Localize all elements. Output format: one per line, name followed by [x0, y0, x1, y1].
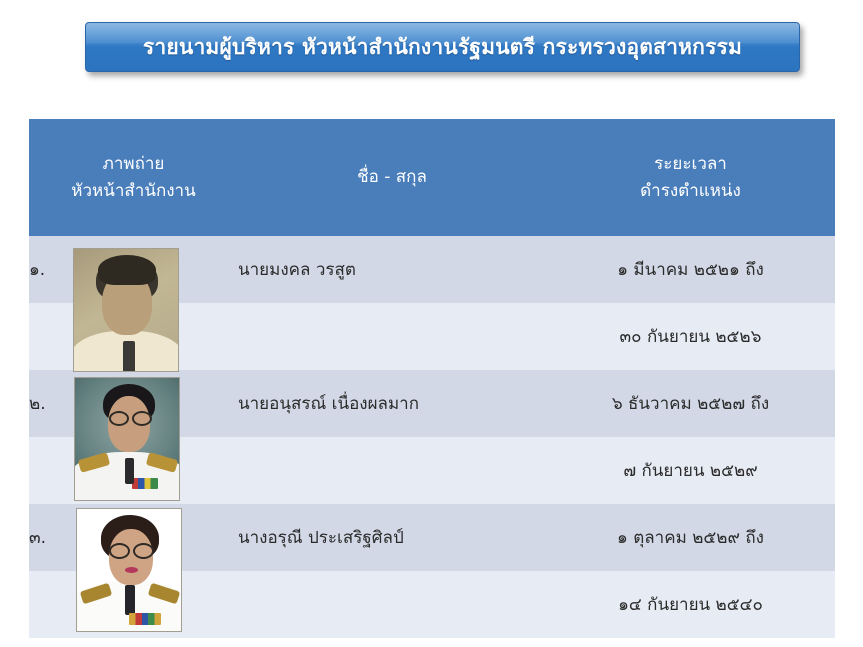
- column-header-photo-line1: ภาพถ่าย: [29, 151, 238, 177]
- row-term-start-3: ๑ ตุลาคม ๒๕๒๙ ถึง: [546, 504, 835, 571]
- table-row: ๓. นางอรุณี ประเสริฐศิลป์ ๑ ตุลาคม ๒๕๒๙ …: [29, 504, 835, 571]
- row-name-3-spacer: [238, 571, 546, 638]
- row-name-3: นางอรุณี ประเสริฐศิลป์: [238, 504, 546, 571]
- row-number-3: ๓.: [29, 504, 238, 571]
- row-name-1-spacer: [238, 303, 546, 370]
- row-term-start-2: ๖ ธันวาคม ๒๕๒๗ ถึง: [546, 370, 835, 437]
- row-term-start-1: ๑ มีนาคม ๒๕๒๑ ถึง: [546, 236, 835, 303]
- row-number-2-spacer: [29, 437, 238, 504]
- table-row: ๒. นายอนุสรณ์ เนื่องผลมาก ๖ ธันวาคม ๒๕๒๗…: [29, 370, 835, 437]
- table-row-continued: ๗ กันยายน ๒๕๒๙: [29, 437, 835, 504]
- row-number-3-spacer: [29, 571, 238, 638]
- row-number-1: ๑.: [29, 236, 238, 303]
- row-term-end-1: ๓๐ กันยายน ๒๕๒๖: [546, 303, 835, 370]
- page-title: รายนามผู้บริหาร หัวหน้าสำนักงานรัฐมนตรี …: [143, 31, 742, 64]
- row-term-end-3: ๑๔ กันยายน ๒๕๔๐: [546, 571, 835, 638]
- column-header-term-line2: ดำรงตำแหน่ง: [546, 178, 835, 204]
- column-header-photo: ภาพถ่าย หัวหน้าสำนักงาน: [29, 119, 238, 236]
- executives-table: ภาพถ่าย หัวหน้าสำนักงาน ชื่อ - สกุล ระยะ…: [29, 119, 835, 638]
- table-row: ๑. นายมงคล วรสูต ๑ มีนาคม ๒๕๒๑ ถึง: [29, 236, 835, 303]
- table-row-continued: ๓๐ กันยายน ๒๕๒๖: [29, 303, 835, 370]
- row-name-1: นายมงคล วรสูต: [238, 236, 546, 303]
- row-name-2: นายอนุสรณ์ เนื่องผลมาก: [238, 370, 546, 437]
- row-number-2: ๒.: [29, 370, 238, 437]
- column-header-photo-line2: หัวหน้าสำนักงาน: [29, 178, 238, 204]
- table-row-continued: ๑๔ กันยายน ๒๕๔๐: [29, 571, 835, 638]
- column-header-name-line1: ชื่อ - สกุล: [238, 164, 546, 190]
- row-number-1-spacer: [29, 303, 238, 370]
- table-header-row: ภาพถ่าย หัวหน้าสำนักงาน ชื่อ - สกุล ระยะ…: [29, 119, 835, 236]
- column-header-name: ชื่อ - สกุล: [238, 119, 546, 236]
- row-term-end-2: ๗ กันยายน ๒๕๒๙: [546, 437, 835, 504]
- column-header-term-line1: ระยะเวลา: [546, 151, 835, 177]
- row-name-2-spacer: [238, 437, 546, 504]
- page-title-banner: รายนามผู้บริหาร หัวหน้าสำนักงานรัฐมนตรี …: [85, 22, 800, 72]
- column-header-term: ระยะเวลา ดำรงตำแหน่ง: [546, 119, 835, 236]
